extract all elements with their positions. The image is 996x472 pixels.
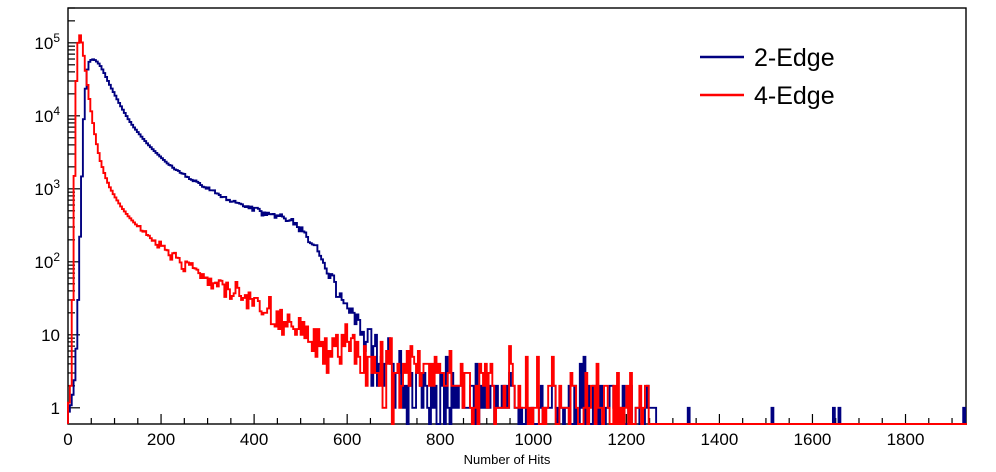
y-tick-label: 1 xyxy=(51,399,60,418)
x-tick-label: 1000 xyxy=(514,430,552,449)
y-tick-label: 105 xyxy=(34,31,60,53)
x-tick-label: 600 xyxy=(333,430,361,449)
x-axis-title: Number of Hits xyxy=(464,452,551,467)
x-tick-label: 200 xyxy=(147,430,175,449)
y-tick-label: 104 xyxy=(34,104,60,126)
y-tick-label: 102 xyxy=(34,250,60,272)
histogram-plot: 020040060080010001200140016001800Number … xyxy=(0,0,996,472)
x-tick-label: 0 xyxy=(63,430,72,449)
x-tick-label: 1800 xyxy=(887,430,925,449)
chart-root: 020040060080010001200140016001800Number … xyxy=(0,0,996,472)
y-tick-label: 103 xyxy=(34,177,60,199)
x-tick-label: 1400 xyxy=(700,430,738,449)
x-tick-label: 1200 xyxy=(607,430,645,449)
series-line-2-edge xyxy=(68,59,967,424)
y-tick-label: 10 xyxy=(41,326,60,345)
legend-label-4-edge: 4-Edge xyxy=(754,82,835,110)
x-tick-label: 800 xyxy=(426,430,454,449)
legend-label-2-edge: 2-Edge xyxy=(754,44,835,72)
x-tick-label: 1600 xyxy=(794,430,832,449)
x-tick-label: 400 xyxy=(240,430,268,449)
